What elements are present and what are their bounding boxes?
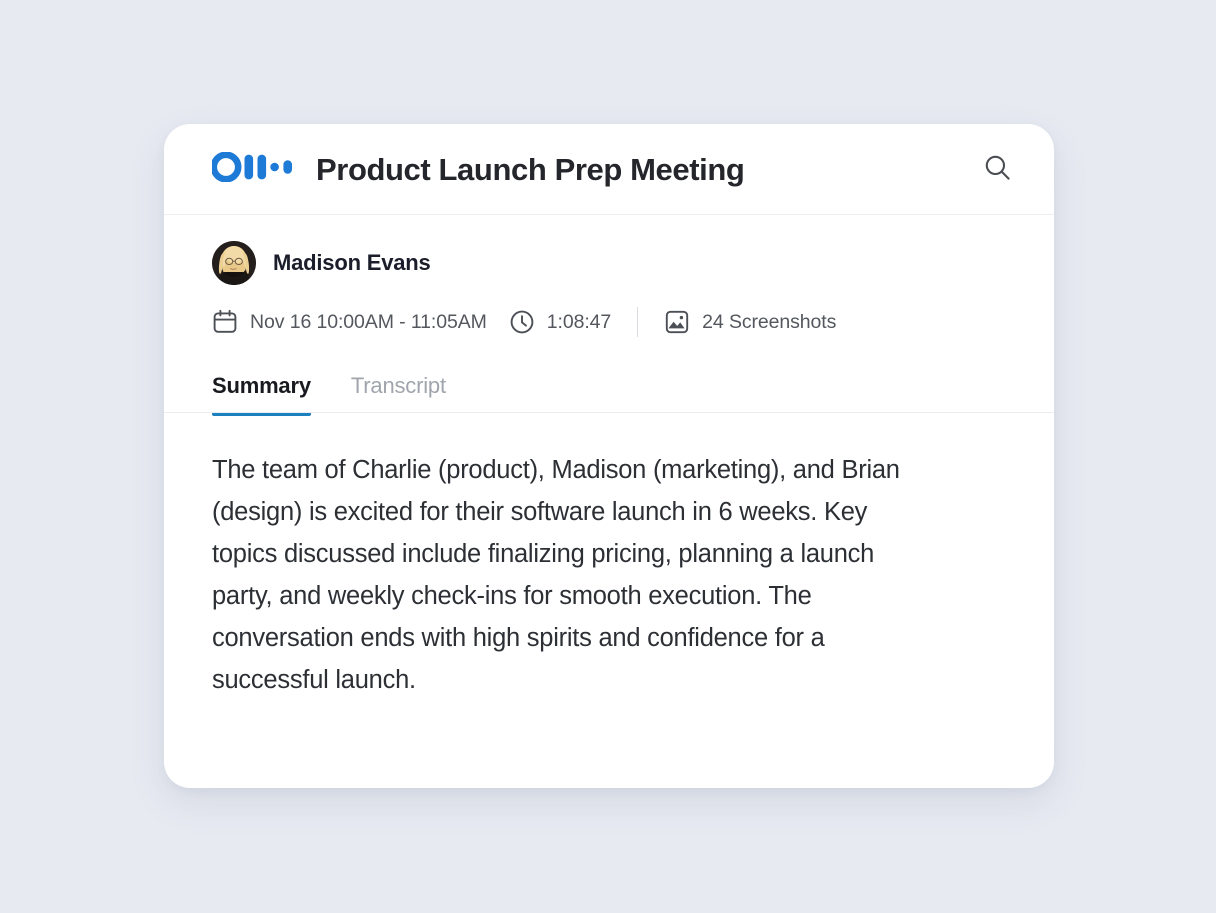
search-button[interactable] xyxy=(976,148,1018,190)
meeting-card: Product Launch Prep Meeting xyxy=(164,124,1054,788)
search-icon xyxy=(983,153,1012,185)
presenter-name: Madison Evans xyxy=(273,252,431,274)
tab-summary-label: Summary xyxy=(212,373,311,398)
tabs-wrap: Summary Transcript xyxy=(164,365,1054,413)
page-title: Product Launch Prep Meeting xyxy=(316,154,976,185)
detail-duration: 1:08:47 xyxy=(509,309,611,335)
calendar-icon xyxy=(212,309,238,335)
tab-transcript-label: Transcript xyxy=(351,373,446,398)
summary-text: The team of Charlie (product), Madison (… xyxy=(164,413,984,701)
detail-duration-value: 1:08:47 xyxy=(547,311,611,334)
image-icon xyxy=(664,309,690,335)
detail-screenshots-value: 24 Screenshots xyxy=(702,311,836,334)
meeting-detail-row: Nov 16 10:00AM - 11:05AM 1:08:47 xyxy=(212,307,1006,337)
detail-divider xyxy=(637,307,638,337)
detail-screenshots[interactable]: 24 Screenshots xyxy=(664,309,836,335)
avatar[interactable] xyxy=(212,241,256,285)
tab-summary[interactable]: Summary xyxy=(212,375,311,413)
detail-date-value: Nov 16 10:00AM - 11:05AM xyxy=(250,311,487,334)
meeting-meta: Madison Evans Nov 16 10:00AM - 11:05AM xyxy=(164,215,1054,337)
presenter-row: Madison Evans xyxy=(212,241,1006,285)
detail-date: Nov 16 10:00AM - 11:05AM xyxy=(212,309,487,335)
tabs-divider xyxy=(164,412,1054,413)
card-header: Product Launch Prep Meeting xyxy=(164,124,1054,215)
app-root: Product Launch Prep Meeting xyxy=(0,0,1216,913)
otter-logo[interactable] xyxy=(212,152,292,187)
clock-icon xyxy=(509,309,535,335)
tab-list: Summary Transcript xyxy=(212,365,1006,413)
tab-transcript[interactable]: Transcript xyxy=(351,375,446,413)
